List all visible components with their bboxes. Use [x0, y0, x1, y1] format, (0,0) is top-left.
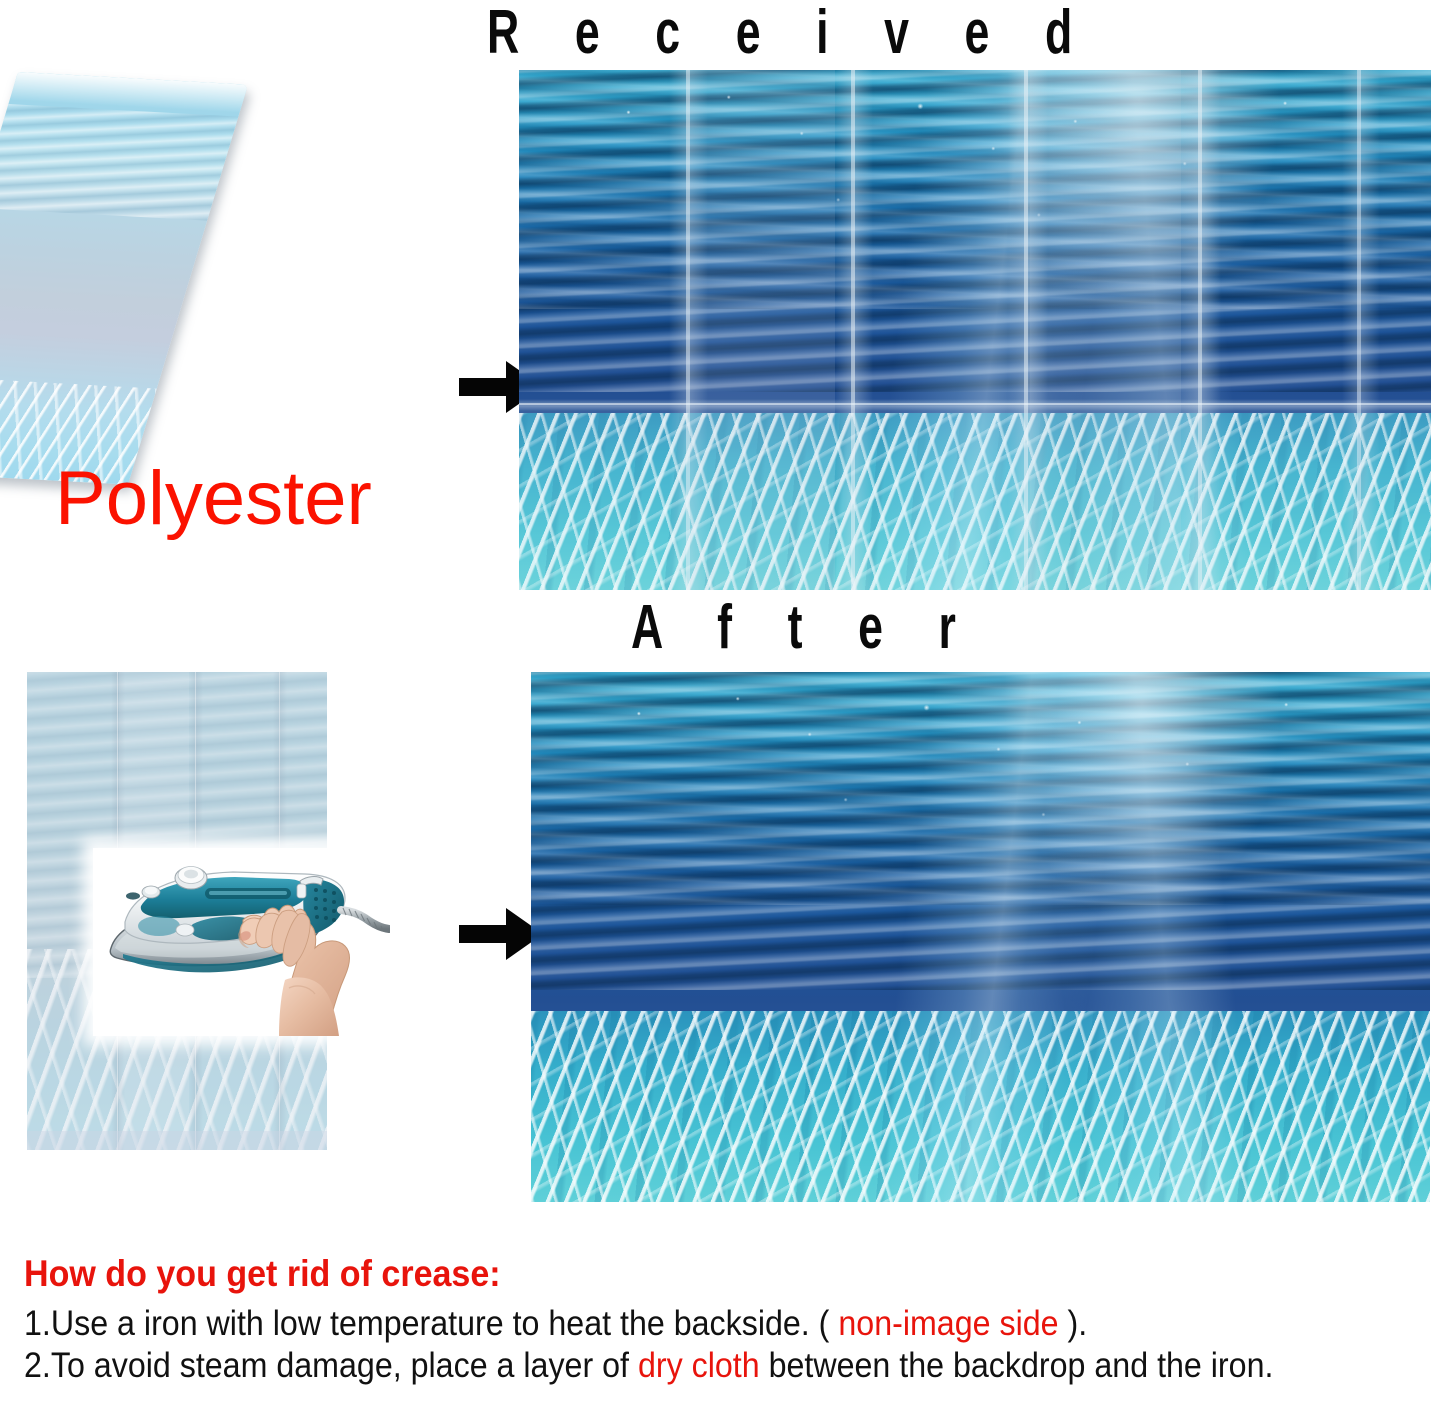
instruction-line-2: 2.To avoid steam damage, place a layer o… [24, 1348, 1273, 1383]
received-backdrop-photo [519, 70, 1431, 590]
bubbles [519, 70, 1431, 372]
section-title-received: R e c e i v e d [487, 2, 1094, 64]
fabric-swatch-surface [0, 72, 248, 485]
instruction-2-prefix: 2.To avoid steam damage, place a layer o… [24, 1346, 638, 1385]
infographic-canvas: R e c e i v e d Polyester [0, 0, 1437, 1401]
instruction-1-prefix: 1.Use a iron with low temperature to hea… [24, 1304, 829, 1343]
instruction-1-suffix: ). [1067, 1304, 1087, 1343]
instruction-2-suffix: between the backdrop and the iron. [769, 1346, 1274, 1385]
instruction-2-highlight: dry cloth [638, 1346, 760, 1385]
instruction-1-highlight: non-image side [838, 1304, 1058, 1343]
bubbles [531, 672, 1430, 969]
iron-demo-photo [93, 848, 390, 1036]
polyester-fabric-swatch [18, 72, 318, 492]
after-backdrop-photo [531, 672, 1430, 1202]
section-title-after: A f t e r [631, 597, 978, 659]
fabric-ripple-texture [0, 104, 238, 221]
polyester-material-label: Polyester [55, 461, 372, 537]
instruction-line-1: 1.Use a iron with low temperature to hea… [24, 1306, 1087, 1341]
steam-iron-icon [93, 848, 390, 1036]
howto-heading: How do you get rid of crease: [24, 1255, 501, 1292]
